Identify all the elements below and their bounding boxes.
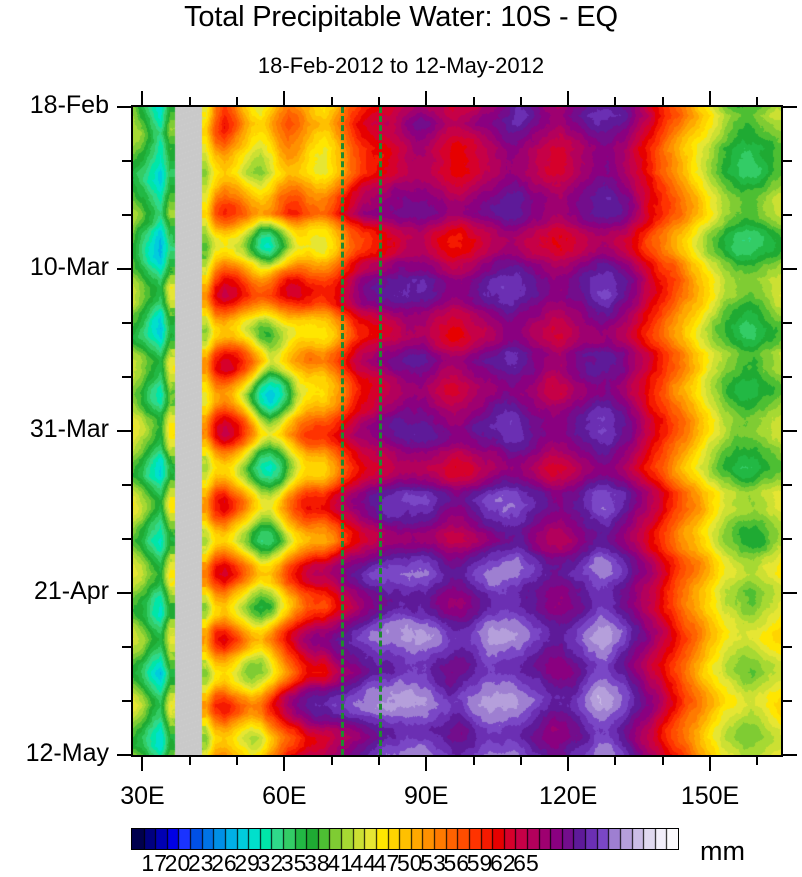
x-axis-label-60E: 60E bbox=[224, 782, 344, 811]
x-axis-label-90E: 90E bbox=[366, 782, 486, 811]
x-tick-minor bbox=[520, 757, 522, 765]
colorbar-gradient bbox=[132, 829, 678, 849]
y-tick-major bbox=[117, 592, 131, 594]
y-tick-minor bbox=[122, 322, 131, 324]
x-tick-major-top bbox=[283, 91, 285, 105]
x-tick-minor bbox=[236, 757, 238, 765]
y-tick-minor-right bbox=[783, 484, 792, 486]
precipitable-water-heatmap bbox=[133, 107, 781, 755]
colorbar bbox=[131, 828, 679, 850]
y-tick-minor-right bbox=[783, 376, 792, 378]
y-tick-minor bbox=[122, 646, 131, 648]
x-axis-label-120E: 120E bbox=[508, 782, 628, 811]
annotation-line-72E bbox=[341, 107, 344, 755]
y-tick-minor-right bbox=[783, 700, 792, 702]
y-axis-label-31-Mar: 31-Mar bbox=[0, 415, 109, 444]
y-axis-label-21-Apr: 21-Apr bbox=[0, 577, 109, 606]
y-tick-major-right bbox=[783, 754, 797, 756]
x-tick-major bbox=[141, 757, 143, 771]
y-tick-major bbox=[117, 430, 131, 432]
y-tick-major bbox=[117, 754, 131, 756]
plot-area bbox=[131, 105, 783, 757]
x-tick-minor bbox=[520, 97, 522, 105]
y-tick-minor bbox=[122, 538, 131, 540]
x-tick-minor bbox=[189, 757, 191, 765]
x-tick-minor bbox=[756, 757, 758, 765]
y-tick-major-right bbox=[783, 430, 797, 432]
x-tick-major-top bbox=[709, 91, 711, 105]
page-title: Total Precipitable Water: 10S - EQ bbox=[0, 1, 802, 34]
y-axis-label-18-Feb: 18-Feb bbox=[0, 91, 109, 120]
y-tick-minor bbox=[122, 700, 131, 702]
y-tick-major-right bbox=[783, 592, 797, 594]
y-tick-minor bbox=[122, 160, 131, 162]
y-axis-label-10-Mar: 10-Mar bbox=[0, 253, 109, 282]
y-tick-minor bbox=[122, 484, 131, 486]
x-tick-major bbox=[425, 757, 427, 771]
y-tick-minor-right bbox=[783, 538, 792, 540]
x-tick-major-top bbox=[567, 91, 569, 105]
x-tick-major-top bbox=[425, 91, 427, 105]
x-axis-label-30E: 30E bbox=[82, 782, 202, 811]
x-tick-major bbox=[283, 757, 285, 771]
x-tick-minor bbox=[331, 757, 333, 765]
x-tick-major bbox=[709, 757, 711, 771]
x-tick-minor bbox=[614, 757, 616, 765]
x-tick-minor bbox=[756, 97, 758, 105]
y-axis-label-12-May: 12-May bbox=[0, 739, 109, 768]
x-tick-major bbox=[567, 757, 569, 771]
x-tick-minor bbox=[614, 97, 616, 105]
y-tick-minor bbox=[122, 376, 131, 378]
hovmoller-figure: Total Precipitable Water: 10S - EQ 18-Fe… bbox=[0, 0, 802, 872]
x-tick-minor bbox=[378, 757, 380, 765]
y-tick-minor-right bbox=[783, 214, 792, 216]
y-tick-minor-right bbox=[783, 322, 792, 324]
annotation-line-80E bbox=[379, 107, 382, 755]
y-tick-minor-right bbox=[783, 646, 792, 648]
x-tick-minor bbox=[378, 97, 380, 105]
x-tick-minor bbox=[473, 97, 475, 105]
x-tick-minor bbox=[189, 97, 191, 105]
x-tick-minor bbox=[662, 97, 664, 105]
y-tick-minor bbox=[122, 214, 131, 216]
y-tick-major bbox=[117, 268, 131, 270]
x-tick-minor bbox=[236, 97, 238, 105]
y-tick-minor-right bbox=[783, 160, 792, 162]
x-tick-major-top bbox=[141, 91, 143, 105]
x-tick-minor bbox=[473, 757, 475, 765]
y-tick-major-right bbox=[783, 106, 797, 108]
x-tick-minor bbox=[331, 97, 333, 105]
x-axis-label-150E: 150E bbox=[650, 782, 770, 811]
figure-subtitle: 18-Feb-2012 to 12-May-2012 bbox=[0, 53, 802, 79]
y-tick-major bbox=[117, 106, 131, 108]
colorbar-units-label: mm bbox=[700, 836, 745, 867]
colorbar-tick-65: 65 bbox=[486, 850, 566, 877]
x-tick-minor bbox=[662, 757, 664, 765]
y-tick-major-right bbox=[783, 268, 797, 270]
